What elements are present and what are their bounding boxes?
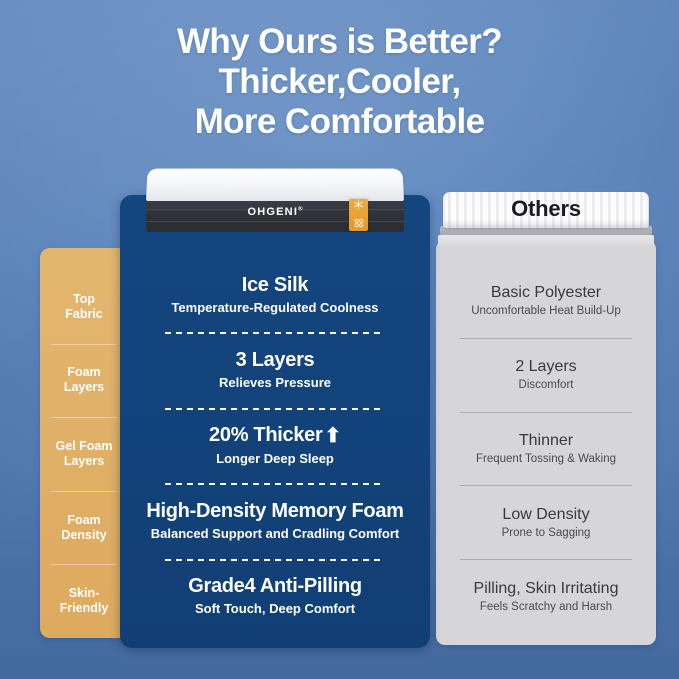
rail-item-top-fabric: Top Fabric bbox=[40, 270, 128, 344]
rail-item-skin-friendly: Skin- Friendly bbox=[40, 564, 128, 638]
rail-item-foam-layers: Foam Layers bbox=[40, 344, 128, 418]
others-row-title: 2 Layers bbox=[515, 357, 576, 376]
ours-row: Ice Silk Temperature-Regulated Coolness bbox=[134, 257, 416, 332]
ours-row: 20% Thicker⬆ Longer Deep Sleep bbox=[134, 408, 416, 483]
ours-row-title: High-Density Memory Foam bbox=[146, 500, 403, 523]
registered-mark: ® bbox=[298, 206, 302, 212]
ours-row-subtitle: Soft Touch, Deep Comfort bbox=[195, 601, 355, 617]
comparison-poster: Why Ours is Better? Thicker,Cooler, More… bbox=[0, 0, 679, 679]
ours-mattress-image: OHGENI® bbox=[146, 168, 404, 234]
ours-row-subtitle: Balanced Support and Cradling Comfort bbox=[151, 526, 399, 542]
ours-row: High-Density Memory Foam Balanced Suppor… bbox=[134, 483, 416, 558]
others-row: Thinner Frequent Tossing & Waking bbox=[446, 412, 646, 486]
others-column-title: Others bbox=[438, 194, 654, 224]
rail-item-label: Foam Density bbox=[61, 513, 106, 543]
ours-row-title-text: 20% Thicker bbox=[209, 424, 322, 446]
others-row-title: Basic Polyester bbox=[491, 283, 601, 302]
rail-item-gel-foam-layers: Gel Foam Layers bbox=[40, 417, 128, 491]
others-row-subtitle: Prone to Sagging bbox=[502, 526, 591, 540]
ours-row: 3 Layers Relieves Pressure bbox=[134, 332, 416, 407]
others-mattress-image: Others bbox=[438, 192, 654, 250]
others-row-title: Low Density bbox=[502, 505, 589, 524]
rail-item-label: Skin- Friendly bbox=[60, 586, 109, 616]
ours-row-title: Ice Silk bbox=[242, 274, 309, 297]
others-row-subtitle: Feels Scratchy and Harsh bbox=[480, 600, 612, 614]
snowflake-icon bbox=[353, 198, 364, 214]
ours-row: Grade4 Anti-Pilling Soft Touch, Deep Com… bbox=[134, 559, 416, 634]
ours-row-subtitle: Temperature-Regulated Coolness bbox=[171, 300, 378, 316]
brand-name: OHGENI bbox=[247, 206, 298, 218]
others-row: Low Density Prone to Sagging bbox=[446, 485, 646, 559]
others-row: 2 Layers Discomfort bbox=[446, 338, 646, 412]
rail-item-label: Foam Layers bbox=[64, 365, 104, 395]
tag-detail-icon bbox=[354, 216, 364, 232]
others-mattress-base bbox=[438, 235, 654, 246]
others-row-subtitle: Frequent Tossing & Waking bbox=[476, 452, 616, 466]
ours-row-title: 20% Thicker⬆ bbox=[209, 424, 341, 448]
ours-row-title: Grade4 Anti-Pilling bbox=[188, 575, 362, 598]
others-card: Basic Polyester Uncomfortable Heat Build… bbox=[436, 240, 656, 645]
ours-row-subtitle: Relieves Pressure bbox=[219, 375, 331, 391]
mattress-tag bbox=[349, 199, 368, 231]
others-row-subtitle: Uncomfortable Heat Build-Up bbox=[471, 304, 621, 318]
rail-item-label: Top Fabric bbox=[65, 292, 103, 322]
headline-line-2: Thicker,Cooler, bbox=[0, 62, 679, 102]
ours-row-title: 3 Layers bbox=[236, 349, 315, 372]
headline-line-1: Why Ours is Better? bbox=[0, 22, 679, 62]
others-row: Basic Polyester Uncomfortable Heat Build… bbox=[446, 264, 646, 338]
others-row-subtitle: Discomfort bbox=[519, 378, 574, 392]
rail-item-foam-density: Foam Density bbox=[40, 491, 128, 565]
ours-mattress-top bbox=[146, 169, 404, 201]
others-row-title: Thinner bbox=[519, 431, 573, 450]
page-title: Why Ours is Better? Thicker,Cooler, More… bbox=[0, 22, 679, 142]
others-row-title: Pilling, Skin Irritating bbox=[474, 579, 619, 598]
rail-item-label: Gel Foam Layers bbox=[56, 439, 113, 469]
ours-card: Ice Silk Temperature-Regulated Coolness … bbox=[120, 195, 430, 648]
headline-line-3: More Comfortable bbox=[0, 102, 679, 142]
attribute-rail: Top Fabric Foam Layers Gel Foam Layers F… bbox=[40, 248, 128, 638]
ours-row-subtitle: Longer Deep Sleep bbox=[216, 451, 334, 467]
arrow-up-icon: ⬆ bbox=[324, 425, 340, 448]
others-row: Pilling, Skin Irritating Feels Scratchy … bbox=[446, 559, 646, 633]
